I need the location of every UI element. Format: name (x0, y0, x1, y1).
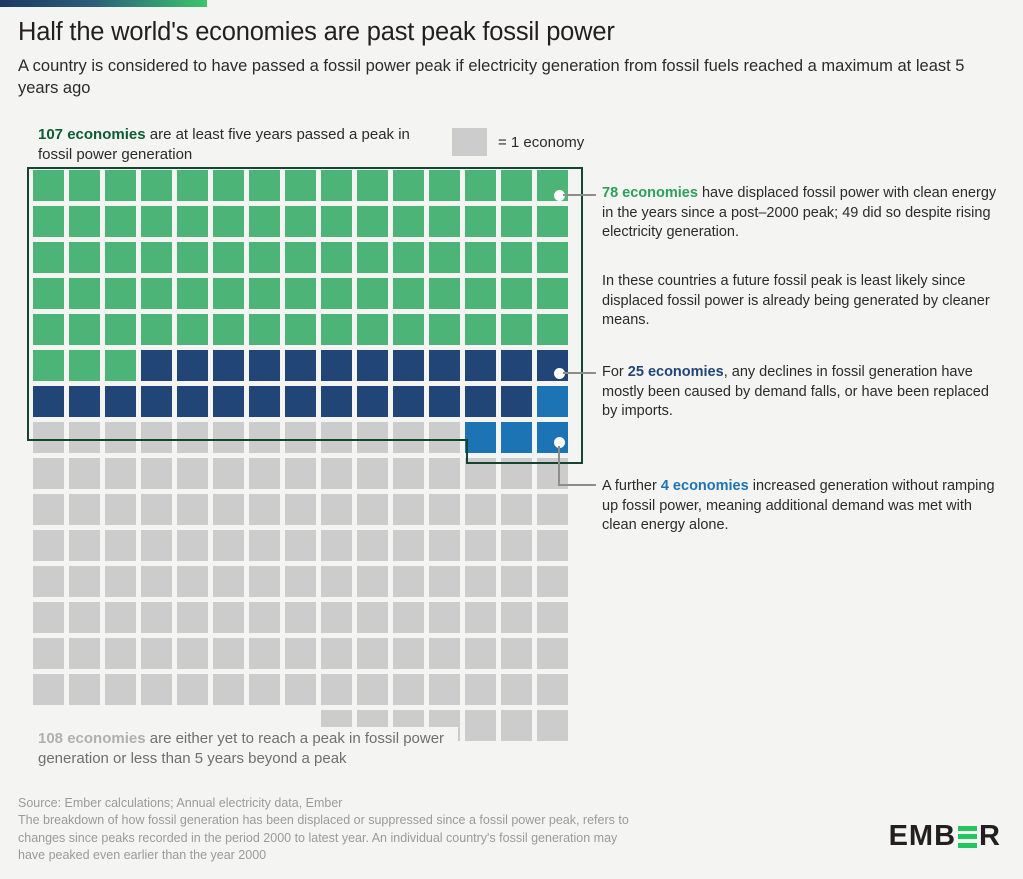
waffle-cell-navy (393, 386, 424, 417)
waffle-cell-green (465, 170, 496, 201)
waffle-cell-green (537, 242, 568, 273)
waffle-row (33, 530, 585, 566)
waffle-cell-green (285, 242, 316, 273)
waffle-cell-green (321, 278, 352, 309)
waffle-cell-grey (465, 530, 496, 561)
legend-label: = 1 economy (498, 134, 584, 151)
waffle-cell-grey (321, 530, 352, 561)
waffle-cell-green (357, 242, 388, 273)
header: Half the world's economies are past peak… (18, 18, 1003, 99)
waffle-cell-grey (177, 638, 208, 669)
waffle-cell-grey (537, 674, 568, 705)
waffle-cell-navy (213, 350, 244, 381)
waffle-cell-grey (393, 638, 424, 669)
waffle-cell-grey (537, 710, 568, 741)
waffle-row (33, 350, 585, 386)
waffle-row (33, 314, 585, 350)
waffle-cell-green (249, 206, 280, 237)
waffle-cell-grey (357, 602, 388, 633)
waffle-cell-green (69, 278, 100, 309)
legend-swatch-icon (452, 128, 487, 156)
waffle-cell-navy (285, 386, 316, 417)
waffle-cell-green (249, 278, 280, 309)
waffle-cell-grey (321, 494, 352, 525)
waffle-cell-green (141, 206, 172, 237)
waffle-cell-green (537, 206, 568, 237)
waffle-row (33, 242, 585, 278)
top-caption: 107 economies are at least five years pa… (38, 125, 438, 166)
past-peak-outline-step-top (27, 439, 468, 442)
waffle-cell-grey (321, 602, 352, 633)
waffle-cell-green (69, 242, 100, 273)
waffle-cell-grey (501, 494, 532, 525)
waffle-cell-navy (177, 386, 208, 417)
waffle-cell-green (141, 170, 172, 201)
bottom-caption-highlight: 108 economies (38, 730, 146, 747)
waffle-cell-grey (429, 458, 460, 489)
page-title: Half the world's economies are past peak… (18, 18, 1003, 47)
waffle-cell-green (105, 278, 136, 309)
waffle-cell-green (177, 206, 208, 237)
waffle-cell-green (357, 170, 388, 201)
leader-dot-green (554, 190, 565, 201)
waffle-cell-green (249, 314, 280, 345)
callout-navy-highlight: 25 economies (628, 364, 724, 380)
waffle-cell-navy (33, 386, 64, 417)
waffle-cell-grey (501, 638, 532, 669)
waffle-cell-grey (393, 422, 424, 453)
waffle-cell-grey (465, 710, 496, 741)
waffle-cell-green (321, 314, 352, 345)
waffle-cell-grey (357, 638, 388, 669)
waffle-cell-blue (537, 386, 568, 417)
waffle-cell-green (177, 278, 208, 309)
waffle-cell-green (393, 206, 424, 237)
waffle-cell-grey (141, 566, 172, 597)
waffle-cell-grey (141, 494, 172, 525)
waffle-cell-grey (249, 602, 280, 633)
waffle-row (33, 386, 585, 422)
waffle-cell-green (501, 170, 532, 201)
leader-line-blue-horizontal (558, 484, 596, 486)
waffle-row (33, 278, 585, 314)
waffle-row (33, 674, 585, 710)
waffle-cell-grey (393, 530, 424, 561)
waffle-cell-grey (465, 602, 496, 633)
past-peak-outline-right (581, 167, 584, 464)
waffle-cell-green (213, 278, 244, 309)
waffle-cell-grey (141, 674, 172, 705)
waffle-cell-green (213, 170, 244, 201)
waffle-cell-green (537, 278, 568, 309)
brand-accent-bar (0, 0, 207, 7)
waffle-cell-grey (465, 638, 496, 669)
top-caption-highlight: 107 economies (38, 126, 146, 143)
ember-logo-e-icon (958, 826, 977, 848)
waffle-cell-grey (69, 566, 100, 597)
waffle-cell-grey (465, 494, 496, 525)
leader-line-green (563, 194, 596, 196)
waffle-cell-grey (357, 494, 388, 525)
waffle-cell-grey (213, 602, 244, 633)
waffle-cell-grey (105, 638, 136, 669)
waffle-cell-green (33, 242, 64, 273)
waffle-cell-grey (429, 566, 460, 597)
waffle-cell-grey (213, 566, 244, 597)
waffle-cell-grey (393, 674, 424, 705)
waffle-cell-green (33, 170, 64, 201)
waffle-cell-grey (33, 422, 64, 453)
waffle-cell-grey (429, 530, 460, 561)
waffle-cell-grey (429, 638, 460, 669)
waffle-cell-grey (465, 674, 496, 705)
waffle-cell-green (429, 242, 460, 273)
callout-blue-prefix: A further (602, 478, 661, 494)
waffle-cell-navy (429, 350, 460, 381)
waffle-cell-grey (105, 602, 136, 633)
waffle-cell-grey (501, 530, 532, 561)
waffle-cell-grey (465, 566, 496, 597)
past-peak-outline-step-vertical (466, 439, 469, 464)
waffle-cell-grey (177, 530, 208, 561)
waffle-cell-grey (249, 458, 280, 489)
waffle-cell-grey (321, 422, 352, 453)
waffle-row (33, 638, 585, 674)
waffle-cell-navy (465, 350, 496, 381)
waffle-cell-green (33, 350, 64, 381)
waffle-cell-green (249, 242, 280, 273)
waffle-cell-green (177, 242, 208, 273)
waffle-cell-green (33, 206, 64, 237)
waffle-cell-grey (393, 494, 424, 525)
waffle-cell-navy (357, 386, 388, 417)
waffle-cell-grey (141, 530, 172, 561)
waffle-cell-grey (177, 422, 208, 453)
waffle-cell-grey (357, 422, 388, 453)
waffle-cell-grey (33, 566, 64, 597)
waffle-cell-green (249, 170, 280, 201)
footer-line-1: Source: Ember calculations; Annual elect… (18, 795, 878, 812)
waffle-cell-navy (393, 350, 424, 381)
waffle-cell-grey (285, 530, 316, 561)
waffle-cell-grey (321, 638, 352, 669)
waffle-row (33, 206, 585, 242)
waffle-cell-green (393, 278, 424, 309)
waffle-cell-grey (501, 602, 532, 633)
waffle-cell-grey (285, 494, 316, 525)
waffle-cell-grey (249, 566, 280, 597)
waffle-cell-grey (141, 638, 172, 669)
callout-green-paragraph2: In these countries a future fossil peak … (602, 273, 990, 328)
page-subtitle: A country is considered to have passed a… (18, 56, 998, 99)
waffle-cell-grey (105, 458, 136, 489)
waffle-cell-green (393, 314, 424, 345)
waffle-cell-navy (69, 386, 100, 417)
waffle-cell-grey (393, 566, 424, 597)
waffle-cell-grey (105, 494, 136, 525)
bottom-caption: 108 economies are either yet to reach a … (38, 727, 458, 770)
waffle-cell-navy (501, 386, 532, 417)
waffle-cell-grey (105, 674, 136, 705)
waffle-cell-grey (429, 422, 460, 453)
waffle-cell-grey (249, 674, 280, 705)
waffle-cell-navy (213, 386, 244, 417)
waffle-cell-grey (537, 566, 568, 597)
waffle-cell-green (69, 170, 100, 201)
waffle-cell-grey (177, 602, 208, 633)
waffle-cell-green (105, 314, 136, 345)
waffle-cell-grey (33, 674, 64, 705)
waffle-cell-grey (501, 566, 532, 597)
waffle-cell-grey (501, 710, 532, 741)
footer-line-4: have peaked even earlier than the year 2… (18, 847, 878, 864)
waffle-cell-green (69, 350, 100, 381)
waffle-cell-navy (321, 386, 352, 417)
waffle-cell-grey (285, 566, 316, 597)
waffle-cell-grey (213, 674, 244, 705)
waffle-cell-green (213, 314, 244, 345)
waffle-cell-green (465, 206, 496, 237)
waffle-cell-grey (321, 566, 352, 597)
waffle-cell-grey (393, 602, 424, 633)
waffle-cell-grey (177, 458, 208, 489)
waffle-cell-green (105, 170, 136, 201)
waffle-cell-green (105, 350, 136, 381)
waffle-cell-grey (69, 674, 100, 705)
waffle-cell-navy (141, 350, 172, 381)
waffle-cell-grey (501, 674, 532, 705)
waffle-cell-green (537, 314, 568, 345)
waffle-cell-grey (141, 602, 172, 633)
waffle-cell-green (285, 278, 316, 309)
waffle-cell-grey (249, 494, 280, 525)
ember-logo-part1: EMB (889, 820, 956, 853)
waffle-cell-grey (69, 530, 100, 561)
waffle-cell-blue (465, 422, 496, 453)
waffle-cell-green (141, 242, 172, 273)
waffle-cell-green (429, 170, 460, 201)
waffle-cell-grey (33, 530, 64, 561)
callout-green-secondary: In these countries a future fossil peak … (602, 272, 992, 331)
waffle-cell-grey (213, 422, 244, 453)
waffle-cell-green (321, 242, 352, 273)
waffle-cell-grey (141, 422, 172, 453)
waffle-cell-grey (177, 674, 208, 705)
waffle-cell-grey (285, 638, 316, 669)
waffle-cell-green (69, 314, 100, 345)
waffle-cell-green (501, 206, 532, 237)
waffle-cell-green (213, 242, 244, 273)
waffle-cell-grey (105, 530, 136, 561)
waffle-cell-green (141, 314, 172, 345)
waffle-cell-grey (177, 494, 208, 525)
waffle-cell-blue (501, 422, 532, 453)
waffle-cell-green (105, 206, 136, 237)
past-peak-outline-step-bottom (466, 462, 584, 465)
waffle-chart (33, 170, 585, 746)
waffle-cell-grey (537, 638, 568, 669)
waffle-row (33, 566, 585, 602)
callout-blue-highlight: 4 economies (661, 478, 749, 494)
waffle-cell-grey (285, 422, 316, 453)
waffle-row (33, 494, 585, 530)
waffle-cell-green (177, 170, 208, 201)
callout-navy-prefix: For (602, 364, 628, 380)
waffle-cell-green (33, 278, 64, 309)
waffle-cell-green (357, 314, 388, 345)
waffle-cell-grey (285, 674, 316, 705)
waffle-cell-green (357, 278, 388, 309)
waffle-cell-grey (213, 638, 244, 669)
waffle-cell-grey (537, 530, 568, 561)
waffle-cell-green (501, 242, 532, 273)
footer-line-2: The breakdown of how fossil generation h… (18, 812, 878, 829)
callout-green: 78 economies have displaced fossil power… (602, 184, 1002, 243)
waffle-cell-grey (249, 638, 280, 669)
waffle-cell-grey (357, 674, 388, 705)
waffle-cell-green (177, 314, 208, 345)
waffle-cell-green (357, 206, 388, 237)
waffle-cell-grey (105, 566, 136, 597)
leader-line-navy (563, 372, 596, 374)
waffle-cell-grey (141, 458, 172, 489)
waffle-cell-green (429, 278, 460, 309)
waffle-cell-grey (69, 458, 100, 489)
callout-blue: A further 4 economies increased generati… (602, 477, 1002, 536)
ember-logo-part2: R (979, 820, 1001, 853)
waffle-cell-green (393, 242, 424, 273)
waffle-cell-green (465, 278, 496, 309)
waffle-cell-grey (33, 494, 64, 525)
waffle-cell-navy (501, 350, 532, 381)
waffle-cell-grey (285, 602, 316, 633)
waffle-cell-green (501, 314, 532, 345)
waffle-cell-grey (285, 458, 316, 489)
waffle-row (33, 170, 585, 206)
waffle-cell-grey (69, 422, 100, 453)
waffle-cell-green (141, 278, 172, 309)
waffle-cell-navy (321, 350, 352, 381)
leader-dot-navy (554, 368, 565, 379)
waffle-cell-grey (33, 638, 64, 669)
waffle-cell-green (285, 314, 316, 345)
waffle-cell-grey (213, 494, 244, 525)
waffle-cell-grey (69, 494, 100, 525)
waffle-cell-navy (141, 386, 172, 417)
waffle-row (33, 602, 585, 638)
waffle-cell-green (105, 242, 136, 273)
waffle-cell-grey (249, 422, 280, 453)
waffle-cell-grey (429, 494, 460, 525)
waffle-cell-green (465, 242, 496, 273)
waffle-cell-grey (177, 566, 208, 597)
waffle-cell-green (429, 314, 460, 345)
waffle-cell-grey (357, 566, 388, 597)
waffle-cell-green (393, 170, 424, 201)
waffle-cell-grey (537, 494, 568, 525)
waffle-cell-grey (105, 422, 136, 453)
callout-green-highlight: 78 economies (602, 185, 698, 201)
waffle-cell-grey (537, 602, 568, 633)
waffle-cell-grey (213, 530, 244, 561)
waffle-cell-navy (177, 350, 208, 381)
waffle-cell-grey (393, 458, 424, 489)
waffle-cell-green (465, 314, 496, 345)
waffle-cell-grey (321, 674, 352, 705)
waffle-cell-grey (357, 458, 388, 489)
waffle-cell-grey (321, 458, 352, 489)
footer-source-note: Source: Ember calculations; Annual elect… (18, 795, 878, 864)
waffle-cell-green (501, 278, 532, 309)
leader-line-blue-vertical (558, 446, 560, 486)
waffle-cell-navy (465, 386, 496, 417)
waffle-cell-grey (249, 530, 280, 561)
waffle-cell-green (213, 206, 244, 237)
waffle-cell-navy (285, 350, 316, 381)
waffle-cell-grey (33, 458, 64, 489)
callout-navy: For 25 economies, any declines in fossil… (602, 363, 1002, 422)
waffle-cell-green (429, 206, 460, 237)
waffle-cell-green (33, 314, 64, 345)
waffle-cell-grey (357, 530, 388, 561)
waffle-cell-navy (105, 386, 136, 417)
waffle-cell-navy (249, 386, 280, 417)
waffle-cell-blue (537, 422, 568, 453)
waffle-cell-green (285, 170, 316, 201)
waffle-cell-green (321, 206, 352, 237)
waffle-cell-grey (69, 638, 100, 669)
waffle-cell-green (69, 206, 100, 237)
legend: = 1 economy (452, 128, 584, 156)
waffle-cell-navy (429, 386, 460, 417)
waffle-cell-grey (69, 602, 100, 633)
waffle-cell-grey (429, 602, 460, 633)
footer-line-3: changes since peaks recorded in the peri… (18, 830, 878, 847)
waffle-cell-grey (213, 458, 244, 489)
waffle-cell-grey (429, 674, 460, 705)
waffle-cell-grey (33, 602, 64, 633)
waffle-cell-navy (357, 350, 388, 381)
waffle-cell-navy (249, 350, 280, 381)
waffle-cell-green (285, 206, 316, 237)
ember-logo: EMB R (889, 820, 1001, 853)
waffle-cell-green (321, 170, 352, 201)
